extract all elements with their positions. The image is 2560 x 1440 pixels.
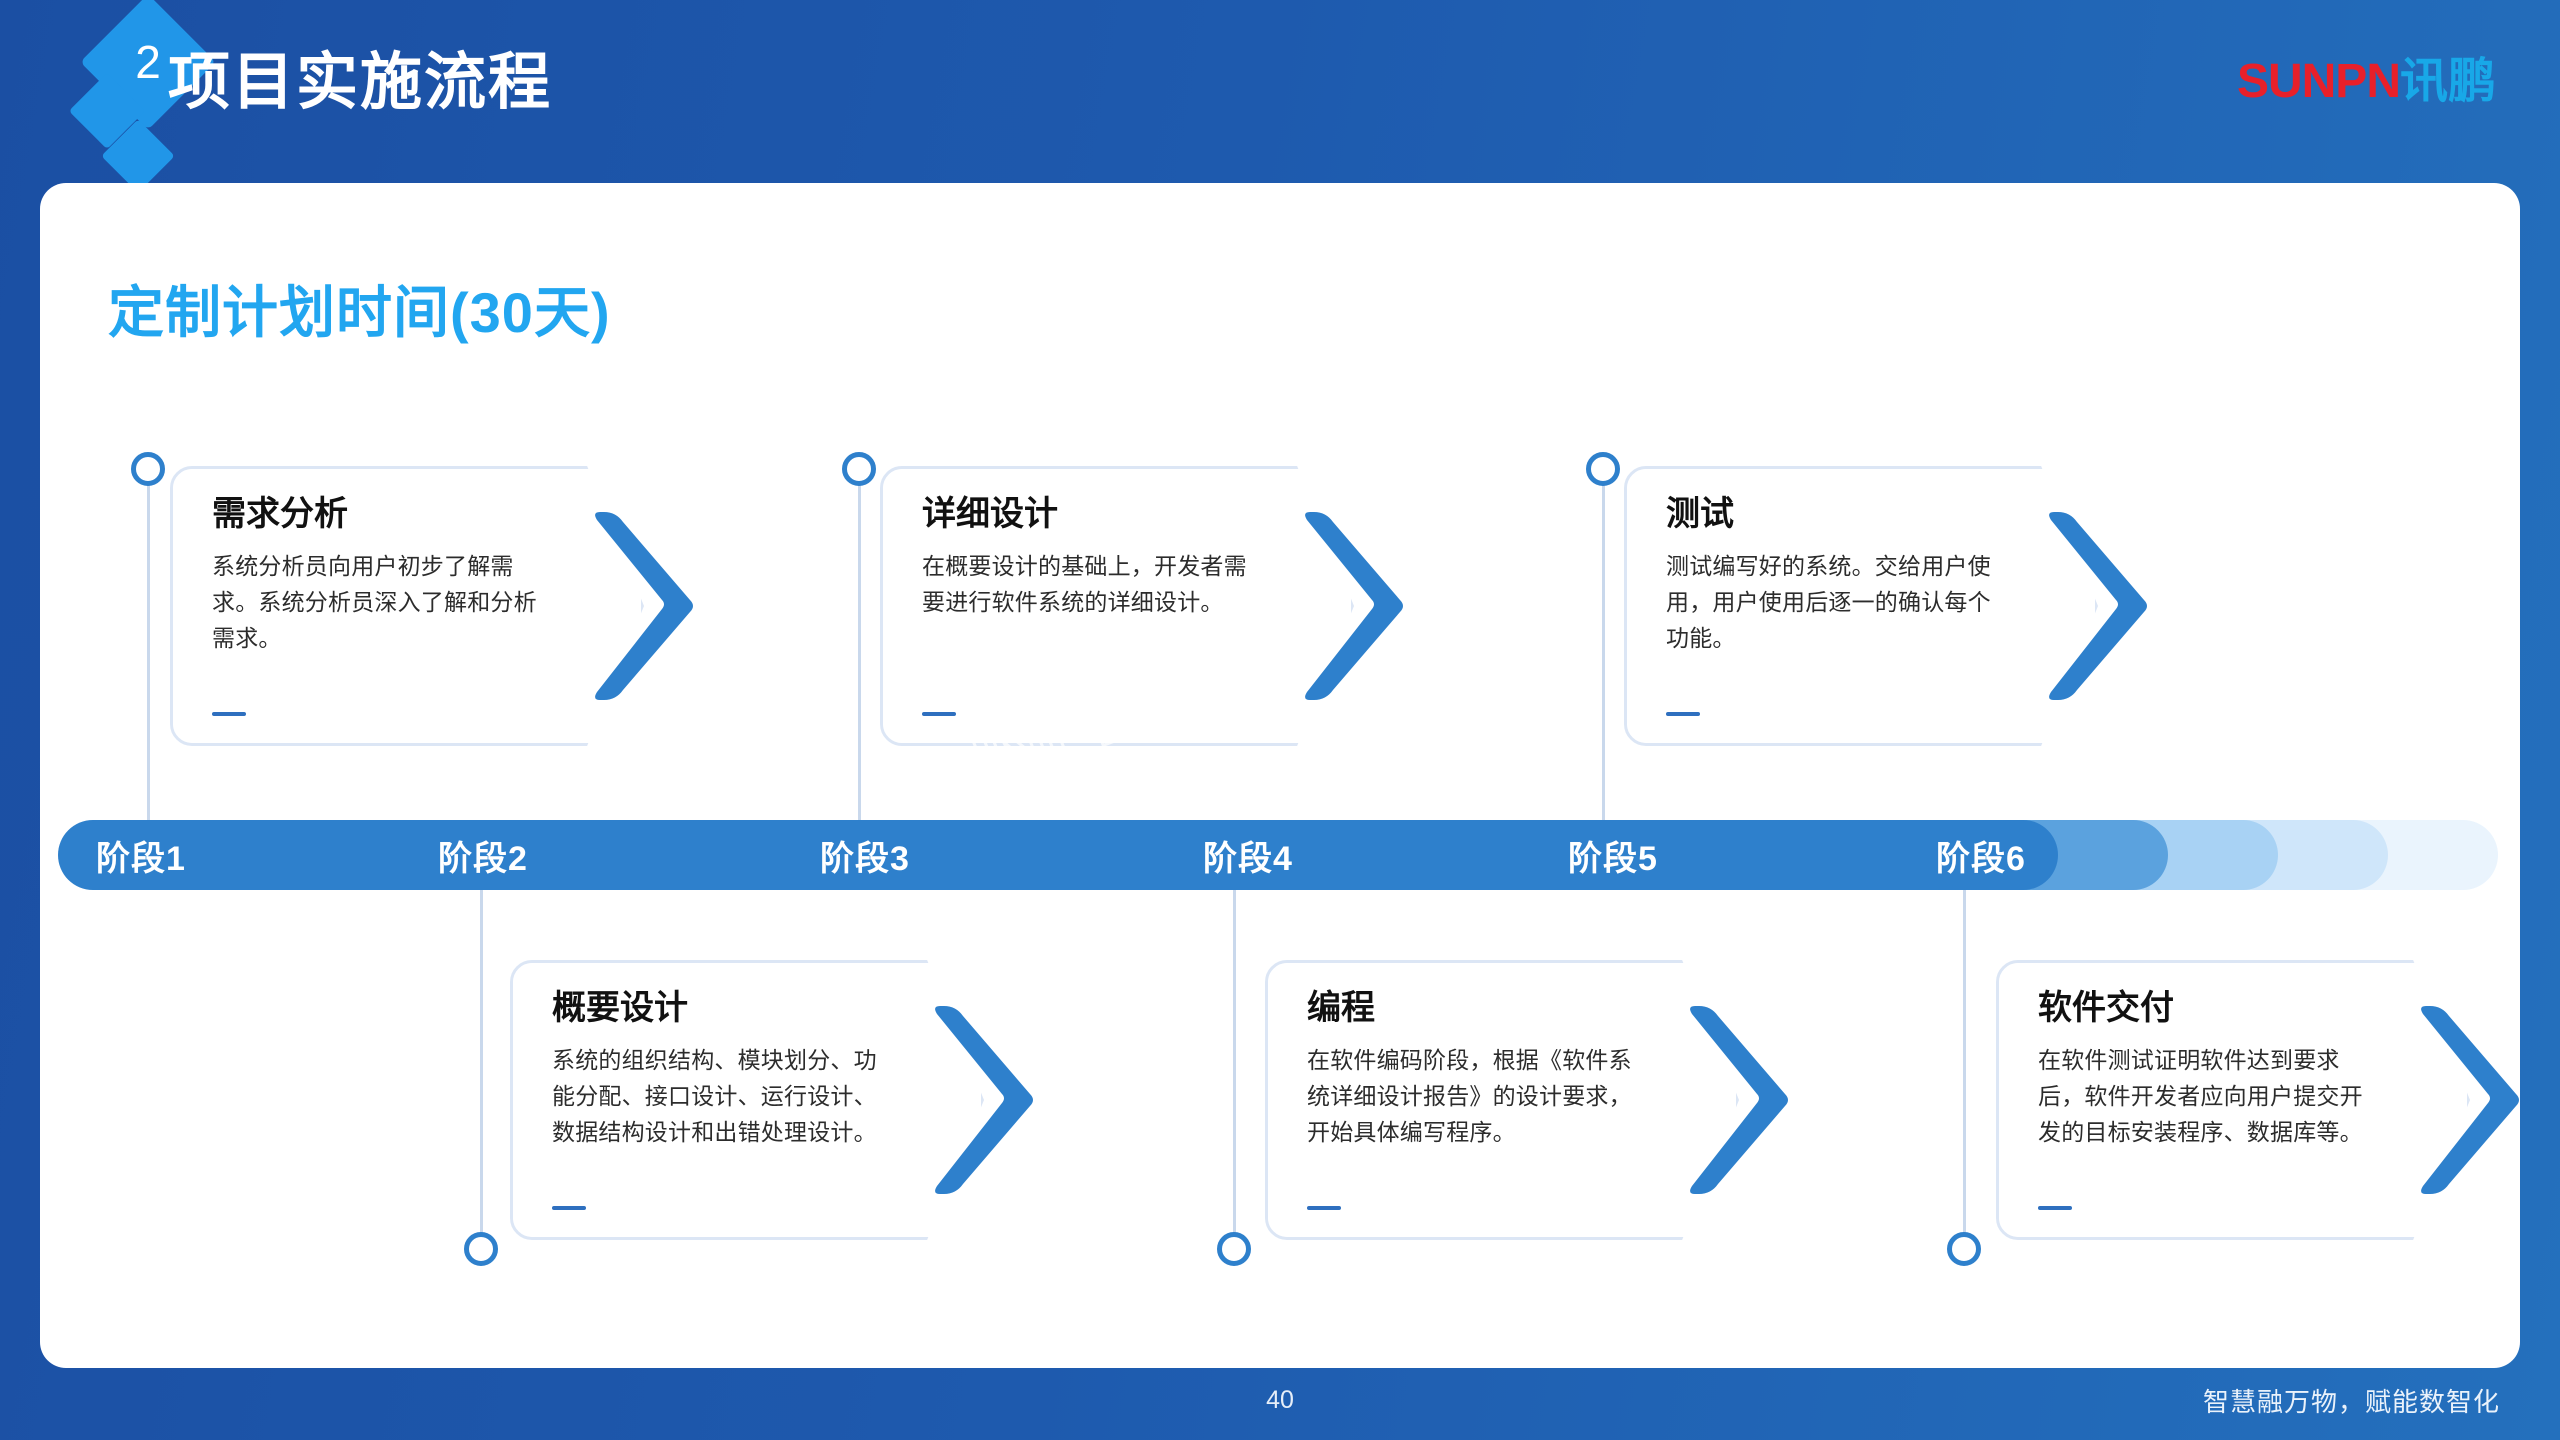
phase-label: 阶段2 (438, 820, 528, 890)
flow-card-title: 概要设计 (552, 990, 888, 1027)
diamond-decoration: 2 (40, 0, 220, 172)
brand-logo-en: SUNPN (2237, 55, 2400, 108)
flow-card-body: 详细设计 在概要设计的基础上，开发者需要进行软件系统的详细设计。 (922, 496, 1258, 621)
flow-card-text: 在概要设计的基础上，开发者需要进行软件系统的详细设计。 (922, 549, 1258, 620)
connector-dot-4 (1217, 1232, 1251, 1266)
connector-stem-1 (147, 470, 150, 830)
connector-stem-4 (1233, 880, 1236, 1250)
section-heading: 定制计划时间(30天) (108, 285, 611, 341)
flow-card[interactable]: 概要设计 系统的组织结构、模块划分、功能分配、接口设计、运行设计、数据结构设计和… (510, 960, 984, 1240)
flow-card-rule (212, 712, 246, 716)
connector-stem-6 (1963, 880, 1966, 1250)
brand-logo-cn: 讯鹏 (2400, 55, 2496, 108)
flow-card-rule (1307, 1206, 1341, 1210)
flow-card[interactable]: 软件交付 在软件测试证明软件达到要求后，软件开发者应向用户提交开发的目标安装程序… (1996, 960, 2470, 1240)
flow-card-title: 编程 (1307, 990, 1643, 1027)
flow-card-body: 需求分析 系统分析员向用户初步了解需求。系统分析员深入了解和分析需求。 (212, 496, 548, 656)
flow-card-rule (2038, 1206, 2072, 1210)
flow-card-body: 测试 测试编写好的系统。交给用户使用，用户使用后逐一的确认每个功能。 (1666, 496, 2002, 656)
chevron-right-icon (1300, 504, 1410, 708)
connector-dot-5 (1586, 452, 1620, 486)
flow-card-text: 测试编写好的系统。交给用户使用，用户使用后逐一的确认每个功能。 (1666, 549, 2002, 656)
phase-label: 阶段5 (1568, 820, 1658, 890)
chevron-right-icon (930, 998, 1040, 1202)
brand-logo: SUNPN讯鹏 (2237, 58, 2496, 106)
chevron-right-icon (1685, 998, 1795, 1202)
flow-card-rule (552, 1206, 586, 1210)
flow-card-title: 测试 (1666, 496, 2002, 533)
connector-dot-6 (1947, 1232, 1981, 1266)
connector-stem-3 (858, 470, 861, 830)
connector-stem-5 (1602, 470, 1605, 830)
flow-card[interactable]: 测试 测试编写好的系统。交给用户使用，用户使用后逐一的确认每个功能。 (1624, 466, 2098, 746)
flow-card-title: 软件交付 (2038, 990, 2374, 1027)
page-title: 项目实施流程 (168, 52, 552, 114)
flow-card-body: 概要设计 系统的组织结构、模块划分、功能分配、接口设计、运行设计、数据结构设计和… (552, 990, 888, 1150)
flow-card[interactable]: 需求分析 系统分析员向用户初步了解需求。系统分析员深入了解和分析需求。 (170, 466, 644, 746)
flow-card-rule (922, 712, 956, 716)
connector-dot-2 (464, 1232, 498, 1266)
flow-card-title: 需求分析 (212, 496, 548, 533)
chevron-right-icon (590, 504, 700, 708)
connector-stem-2 (480, 880, 483, 1250)
chevron-right-icon (2416, 998, 2526, 1202)
footer-tagline: 智慧融万物，赋能数智化 (2203, 1382, 2500, 1419)
flow-card-text: 系统分析员向用户初步了解需求。系统分析员深入了解和分析需求。 (212, 549, 548, 656)
slide-root: 2 项目实施流程 SUNPN讯鹏 定制计划时间(30天) 需求分析 系统分析员向… (0, 0, 2560, 1440)
flow-card-text: 在软件测试证明软件达到要求后，软件开发者应向用户提交开发的目标安装程序、数据库等… (2038, 1043, 2374, 1150)
flow-card-title: 详细设计 (922, 496, 1258, 533)
flow-card-body: 软件交付 在软件测试证明软件达到要求后，软件开发者应向用户提交开发的目标安装程序… (2038, 990, 2374, 1150)
phase-bar-main (58, 820, 2058, 890)
flow-card[interactable]: 编程 在软件编码阶段，根据《软件系统详细设计报告》的设计要求，开始具体编写程序。 (1265, 960, 1739, 1240)
section-number: 2 (100, 14, 196, 110)
connector-dot-1 (131, 452, 165, 486)
phase-label: 阶段1 (96, 820, 186, 890)
flow-card-text: 在软件编码阶段，根据《软件系统详细设计报告》的设计要求，开始具体编写程序。 (1307, 1043, 1643, 1150)
flow-card-rule (1666, 712, 1700, 716)
slide-header: 2 项目实施流程 SUNPN讯鹏 (0, 0, 2560, 172)
phase-label: 阶段6 (1936, 820, 2026, 890)
phase-bar: 阶段1 阶段2 阶段3 阶段4 阶段5 阶段6 (58, 820, 2502, 890)
flow-card[interactable]: 详细设计 在概要设计的基础上，开发者需要进行软件系统的详细设计。 (880, 466, 1354, 746)
connector-dot-3 (842, 452, 876, 486)
flow-card-text: 系统的组织结构、模块划分、功能分配、接口设计、运行设计、数据结构设计和出错处理设… (552, 1043, 888, 1150)
phase-label: 阶段3 (820, 820, 910, 890)
page-number: 40 (0, 1386, 2560, 1415)
chevron-right-icon (2044, 504, 2154, 708)
flow-card-body: 编程 在软件编码阶段，根据《软件系统详细设计报告》的设计要求，开始具体编写程序。 (1307, 990, 1643, 1150)
phase-label: 阶段4 (1203, 820, 1293, 890)
